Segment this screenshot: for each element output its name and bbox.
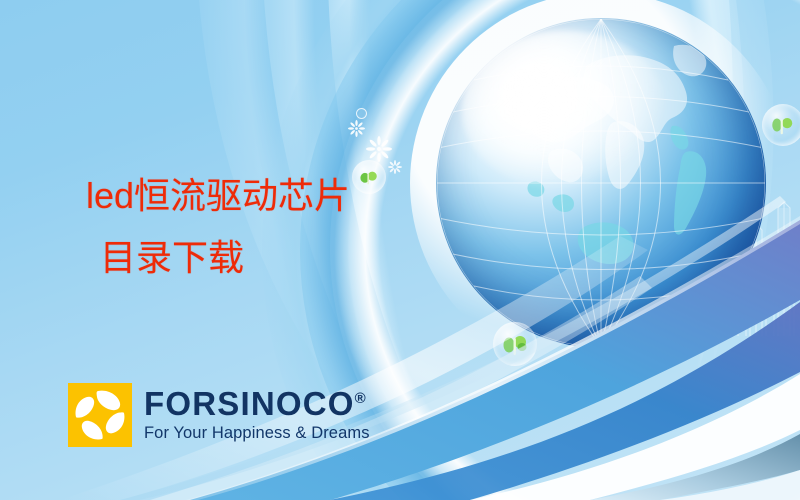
headline-line-2: 目录下载 bbox=[86, 227, 506, 289]
logo-wordmark: FORSINOCO® bbox=[144, 387, 370, 420]
logo-tagline: For Your Happiness & Dreams bbox=[144, 424, 370, 443]
bubble-with-leaf-lower bbox=[493, 322, 537, 366]
mini-bubble-dot bbox=[356, 108, 367, 119]
sprout-icon bbox=[769, 112, 796, 138]
promo-banner: led恒流驱动芯片 目录下载 FORSINOCO® For Your Happi… bbox=[0, 0, 800, 500]
starburst-large-icon bbox=[366, 136, 392, 162]
brand-logo: FORSINOCO® For Your Happiness & Dreams bbox=[68, 383, 370, 447]
four-petal-pinwheel-icon bbox=[68, 383, 132, 447]
bubble-with-leaf-right bbox=[762, 104, 800, 146]
starburst-small-icon bbox=[348, 120, 365, 137]
registered-trademark-symbol: ® bbox=[355, 390, 366, 407]
logo-text-block: FORSINOCO® For Your Happiness & Dreams bbox=[144, 387, 370, 443]
logo-wordmark-text: FORSINOCO bbox=[144, 385, 355, 422]
plant-icon bbox=[501, 330, 529, 358]
headline-line-1: led恒流驱动芯片 bbox=[86, 175, 350, 216]
page-title: led恒流驱动芯片 目录下载 bbox=[86, 165, 506, 289]
